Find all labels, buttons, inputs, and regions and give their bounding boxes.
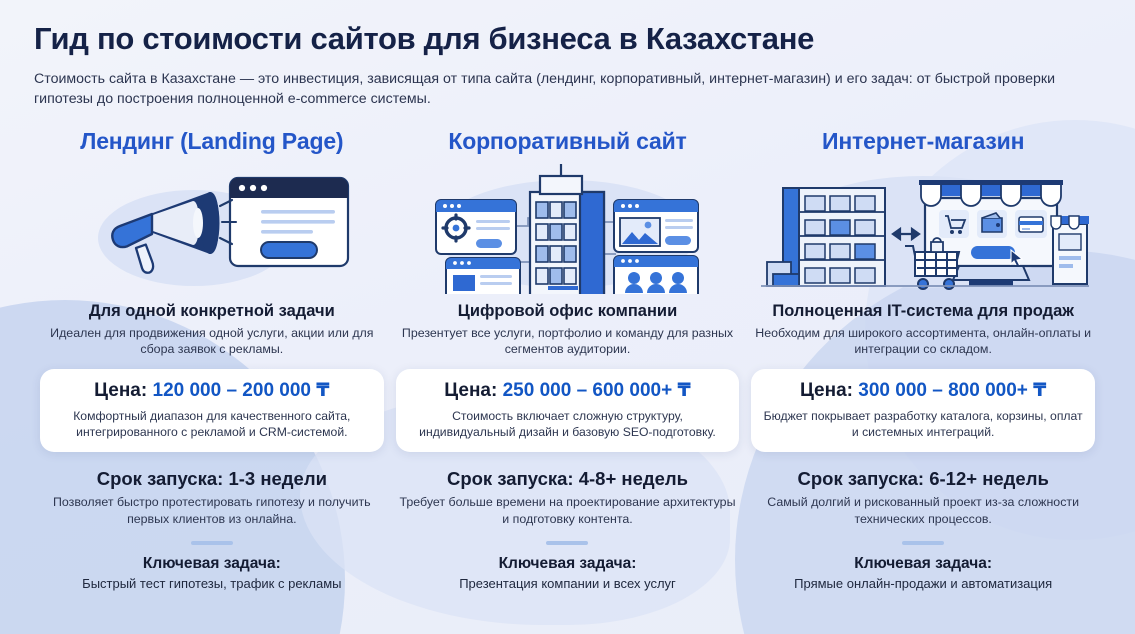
office-building-browsers-illustration: [396, 159, 740, 297]
column-landing: Лендинг (Landing Page): [34, 128, 390, 593]
head-title-corporate: Цифровой офис компании: [396, 301, 740, 322]
column-ecommerce: Интернет-магазин: [745, 128, 1101, 593]
term-block-landing: Срок запуска: 1-3 недели Позволяет быстр…: [40, 468, 384, 528]
task-title-corporate: Ключевая задача:: [396, 555, 740, 574]
comparison-columns: Лендинг (Landing Page): [34, 128, 1101, 593]
section-divider-ecommerce: [902, 541, 944, 545]
price-card-landing: Цена: 120 000 – 200 000 ₸ Комфортный диа…: [40, 369, 384, 452]
megaphone-browser-illustration: [40, 159, 384, 297]
price-card-ecommerce: Цена: 300 000 – 800 000+ ₸ Бюджет покрыв…: [751, 369, 1095, 452]
term-desc-landing: Позволяет быстро протестировать гипотезу…: [40, 494, 384, 527]
section-divider-corporate: [546, 541, 588, 545]
term-block-ecommerce: Срок запуска: 6-12+ недель Самый долгий …: [751, 468, 1095, 528]
task-title-ecommerce: Ключевая задача:: [751, 555, 1095, 574]
content-area: Гид по стоимости сайтов для бизнеса в Ка…: [0, 0, 1135, 593]
term-desc-ecommerce: Самый долгий и рискованный проект из-за …: [751, 494, 1095, 527]
price-label-ecommerce: Цена:: [800, 380, 853, 401]
term-title-landing: Срок запуска: 1-3 недели: [40, 468, 384, 490]
column-title-landing: Лендинг (Landing Page): [40, 128, 384, 155]
section-divider-landing: [191, 541, 233, 545]
page-subtitle: Стоимость сайта в Казахстане — это инвес…: [34, 69, 1101, 110]
infographic-canvas: Гид по стоимости сайтов для бизнеса в Ка…: [0, 0, 1135, 634]
task-block-ecommerce: Ключевая задача: Прямые онлайн-продажи и…: [751, 555, 1095, 593]
term-title-ecommerce: Срок запуска: 6-12+ недель: [751, 468, 1095, 490]
head-block-ecommerce: Полноценная IT-система для продаж Необхо…: [751, 301, 1095, 358]
price-desc-corporate: Стоимость включает сложную структуру, ин…: [408, 408, 728, 440]
page-title: Гид по стоимости сайтов для бизнеса в Ка…: [34, 22, 1101, 57]
head-title-landing: Для одной конкретной задачи: [40, 301, 384, 322]
task-desc-corporate: Презентация компании и всех услуг: [396, 576, 740, 593]
head-block-landing: Для одной конкретной задачи Идеален для …: [40, 301, 384, 358]
price-desc-landing: Комфортный диапазон для качественного са…: [52, 408, 372, 440]
price-value-ecommerce: 300 000 – 800 000+ ₸: [858, 380, 1046, 401]
task-title-landing: Ключевая задача:: [40, 555, 384, 574]
task-desc-ecommerce: Прямые онлайн-продажи и автоматизация: [751, 576, 1095, 593]
head-desc-ecommerce: Необходим для широкого ассортимента, онл…: [751, 325, 1095, 358]
price-card-corporate: Цена: 250 000 – 600 000+ ₸ Стоимость вкл…: [396, 369, 740, 452]
task-desc-landing: Быстрый тест гипотезы, трафик с рекламы: [40, 576, 384, 593]
price-value-landing: 120 000 – 200 000 ₸: [153, 380, 330, 401]
price-line-corporate: Цена: 250 000 – 600 000+ ₸: [408, 380, 728, 403]
price-desc-ecommerce: Бюджет покрывает разработку каталога, ко…: [763, 408, 1083, 440]
task-block-corporate: Ключевая задача: Презентация компании и …: [396, 555, 740, 593]
price-line-landing: Цена: 120 000 – 200 000 ₸: [52, 380, 372, 403]
term-desc-corporate: Требует больше времени на проектирование…: [396, 494, 740, 527]
term-block-corporate: Срок запуска: 4-8+ недель Требует больше…: [396, 468, 740, 528]
column-title-corporate: Корпоративный сайт: [396, 128, 740, 155]
warehouse-storefront-cart-illustration: [751, 159, 1095, 297]
head-desc-corporate: Презентует все услуги, портфолио и коман…: [396, 325, 740, 358]
column-corporate: Корпоративный сайт: [390, 128, 746, 593]
head-title-ecommerce: Полноценная IT-система для продаж: [751, 301, 1095, 322]
term-title-corporate: Срок запуска: 4-8+ недель: [396, 468, 740, 490]
head-desc-landing: Идеален для продвижения одной услуги, ак…: [40, 325, 384, 358]
price-value-corporate: 250 000 – 600 000+ ₸: [503, 380, 691, 401]
price-label-landing: Цена:: [94, 380, 147, 401]
price-label-corporate: Цена:: [444, 380, 497, 401]
price-line-ecommerce: Цена: 300 000 – 800 000+ ₸: [763, 380, 1083, 403]
head-block-corporate: Цифровой офис компании Презентует все ус…: [396, 301, 740, 358]
task-block-landing: Ключевая задача: Быстрый тест гипотезы, …: [40, 555, 384, 593]
column-title-ecommerce: Интернет-магазин: [751, 128, 1095, 155]
